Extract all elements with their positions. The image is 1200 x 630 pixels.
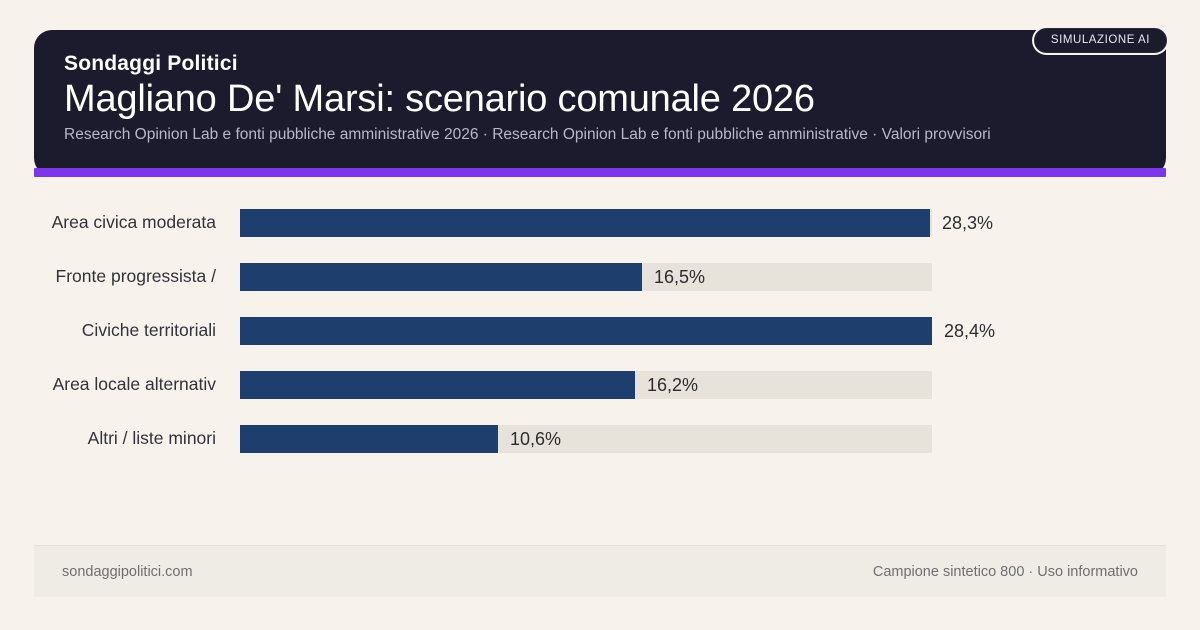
bar-value-label: 28,4% [944, 322, 995, 340]
footer-note-label: Campione sintetico 800 · Uso informativo [873, 564, 1138, 580]
bar-track-wrapper: 16,5% [240, 263, 932, 291]
status-badge: SIMULAZIONE AI [1034, 28, 1167, 53]
bar-fill [240, 425, 498, 453]
bar-value-label: 16,2% [647, 376, 698, 394]
table-row: Altri / liste minori 10,6% [0, 412, 1200, 466]
accent-divider [34, 168, 1166, 177]
page-title: Magliano De' Marsi: scenario comunale 20… [64, 77, 1132, 122]
header-card: Sondaggi Politici Magliano De' Marsi: sc… [34, 30, 1166, 176]
bar-value-label: 16,5% [654, 268, 705, 286]
bar-track-wrapper: 28,4% [240, 317, 932, 345]
bar-fill [240, 209, 930, 237]
header-subtitle: Research Opinion Lab e fonti pubbliche a… [64, 125, 1132, 145]
table-row: Fronte progressista / 16,5% [0, 250, 1200, 304]
bar-category-label: Altri / liste minori [0, 429, 216, 448]
poster-canvas: Sondaggi Politici Magliano De' Marsi: sc… [0, 0, 1200, 630]
bar-track-wrapper: 10,6% [240, 425, 932, 453]
brand-kicker: Sondaggi Politici [64, 52, 1132, 75]
bar-category-label: Civiche territoriali [0, 321, 216, 340]
bar-fill [240, 263, 642, 291]
header: Sondaggi Politici Magliano De' Marsi: sc… [34, 30, 1166, 176]
table-row: Civiche territoriali 28,4% [0, 304, 1200, 358]
bar-fill [240, 371, 635, 399]
table-row: Area locale alternativ 16,2% [0, 358, 1200, 412]
footer-site-label: sondaggipolitici.com [62, 564, 193, 580]
bar-category-label: Area civica moderata [0, 213, 216, 232]
bar-chart: Area civica moderata 28,3% Fronte progre… [0, 196, 1200, 466]
bar-fill [240, 317, 932, 345]
bar-value-label: 28,3% [942, 214, 993, 232]
table-row: Area civica moderata 28,3% [0, 196, 1200, 250]
bar-category-label: Area locale alternativ [0, 375, 216, 394]
footer: sondaggipolitici.com Campione sintetico … [34, 545, 1166, 597]
bar-track-wrapper: 28,3% [240, 209, 932, 237]
bar-track-wrapper: 16,2% [240, 371, 932, 399]
bar-value-label: 10,6% [510, 430, 561, 448]
bar-category-label: Fronte progressista / [0, 267, 216, 286]
